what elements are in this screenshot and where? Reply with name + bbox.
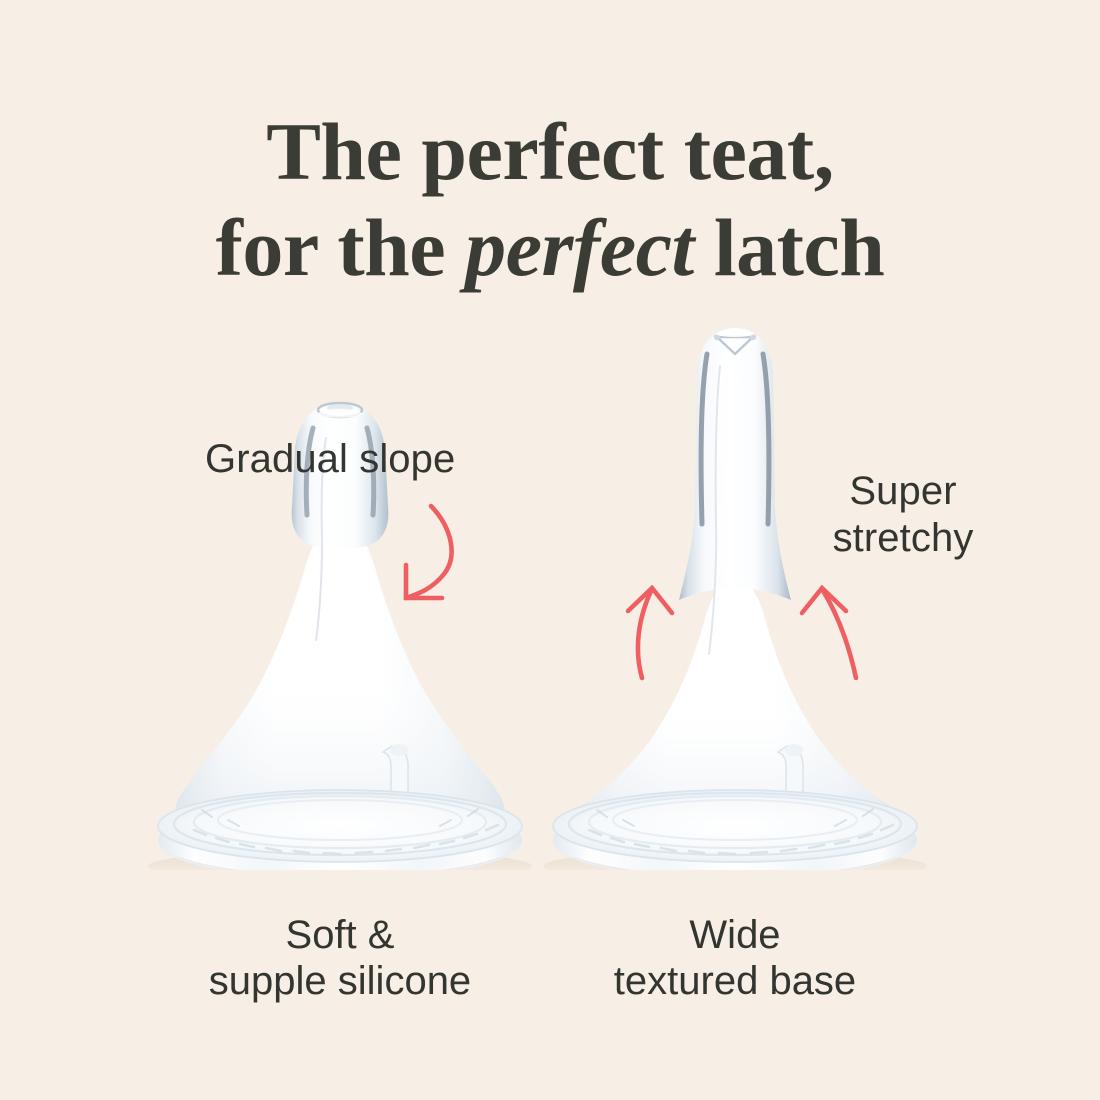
caption-line-2: supple silicone <box>140 958 540 1004</box>
caption-line-2: textured base <box>535 958 935 1004</box>
headline-emphasis: perfect <box>465 202 694 293</box>
headline-line-2-after: latch <box>694 202 885 293</box>
teat-stem <box>679 328 791 600</box>
caption-line-1: Soft & <box>140 912 540 958</box>
page-title: The perfect teat, for the perfect latch <box>0 104 1100 296</box>
annotation-text-line-2: stretchy <box>808 515 998 562</box>
product-feature-graphic: The perfect teat, for the perfect latch <box>0 0 1100 1100</box>
annotation-label-super-stretchy: Super stretchy <box>808 468 998 562</box>
headline-line-2-before: for the <box>216 202 466 293</box>
annotation-text-line-1: Super <box>808 468 998 515</box>
product-image-gradual-slope-teat <box>140 310 540 870</box>
caption-soft-supple-silicone: Soft & supple silicone <box>140 912 540 1005</box>
annotation-label-gradual-slope: Gradual slope <box>205 436 455 483</box>
headline-line-1: The perfect teat, <box>0 104 1100 200</box>
caption-wide-textured-base: Wide textured base <box>535 912 935 1005</box>
caption-line-1: Wide <box>535 912 935 958</box>
headline-line-2: for the perfect latch <box>0 200 1100 296</box>
product-image-super-stretchy-teat <box>535 310 935 870</box>
annotation-text: Gradual slope <box>205 436 455 483</box>
